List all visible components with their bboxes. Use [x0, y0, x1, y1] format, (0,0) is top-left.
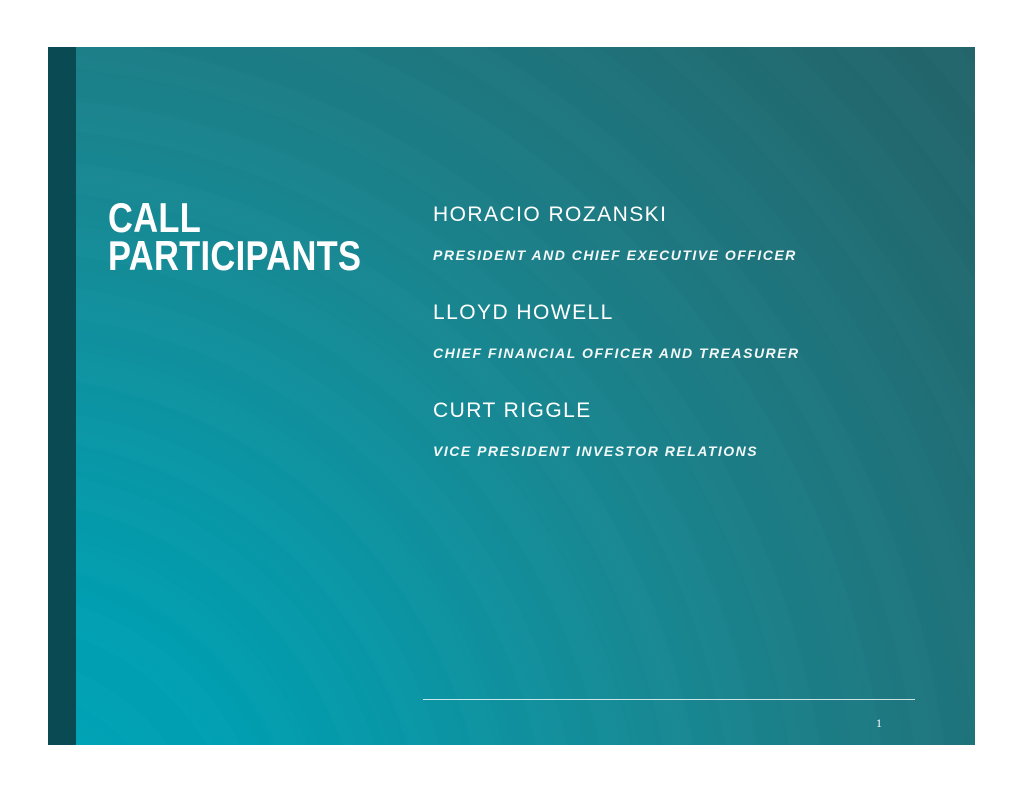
page-number: 1 [844, 715, 914, 731]
participant-entry: CURT RIGGLE VICE PRESIDENT INVESTOR RELA… [433, 398, 800, 461]
slide-title: CALL PARTICIPANTS [108, 199, 417, 275]
participant-role: VICE PRESIDENT INVESTOR RELATIONS [433, 441, 800, 461]
participant-name: LLOYD HOWELL [433, 300, 800, 326]
presentation-slide: CALL PARTICIPANTS HORACIO ROZANSKI PRESI… [48, 47, 975, 745]
participant-name: CURT RIGGLE [433, 398, 800, 424]
slide-page: CALL PARTICIPANTS HORACIO ROZANSKI PRESI… [0, 0, 1024, 791]
left-accent-bar [48, 47, 76, 745]
slide-title-line-2: PARTICIPANTS [108, 237, 361, 275]
participant-role: PRESIDENT AND CHIEF EXECUTIVE OFFICER [433, 245, 800, 265]
participant-entry: HORACIO ROZANSKI PRESIDENT AND CHIEF EXE… [433, 202, 800, 265]
participant-name: HORACIO ROZANSKI [433, 202, 800, 228]
participant-role: CHIEF FINANCIAL OFFICER AND TREASURER [433, 343, 800, 363]
footer-divider [423, 699, 915, 700]
participant-entry: LLOYD HOWELL CHIEF FINANCIAL OFFICER AND… [433, 300, 800, 363]
participants-list: HORACIO ROZANSKI PRESIDENT AND CHIEF EXE… [433, 202, 800, 461]
